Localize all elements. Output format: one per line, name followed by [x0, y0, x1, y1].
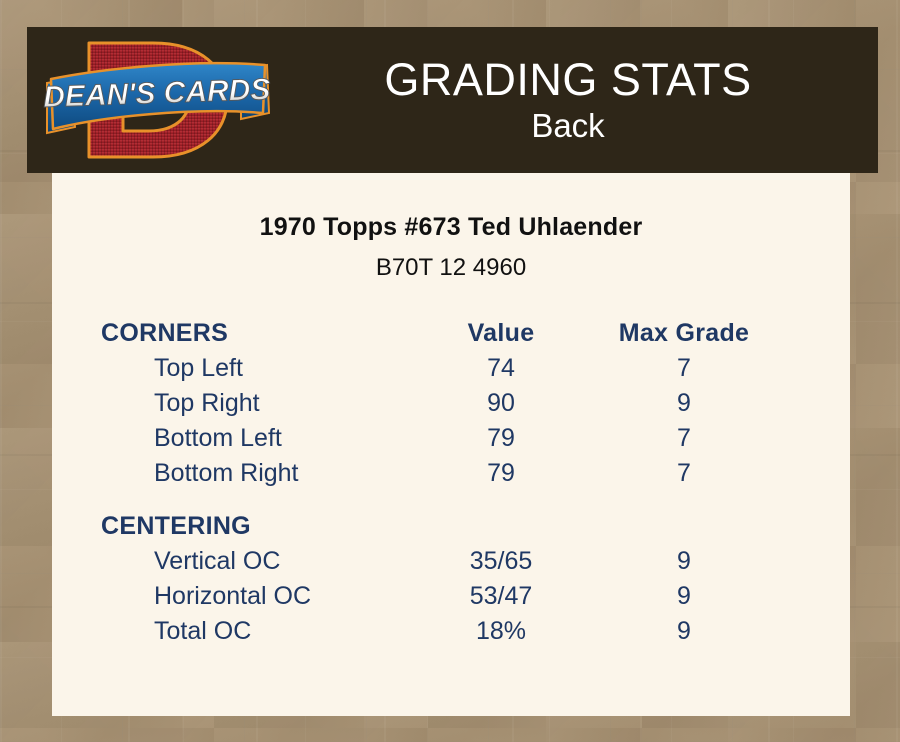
- section-title: CORNERS: [101, 319, 411, 348]
- stat-max-grade: 9: [591, 582, 777, 611]
- stat-max-grade: 7: [591, 354, 777, 383]
- stats-row: Top Left747: [101, 354, 828, 389]
- stats-panel: 1970 Topps #673 Ted Uhlaender B70T 12 49…: [52, 173, 850, 716]
- logo-area[interactable]: DEAN'S CARDS: [27, 27, 282, 173]
- page-title: GRADING STATS: [282, 54, 854, 106]
- stat-value: 79: [411, 424, 591, 453]
- stat-max-grade: 7: [591, 424, 777, 453]
- stat-label: Top Right: [101, 389, 411, 418]
- stat-max-grade: 9: [591, 617, 777, 646]
- stat-label: Bottom Right: [101, 459, 411, 488]
- stat-label: Horizontal OC: [101, 582, 411, 611]
- stat-max-grade: 9: [591, 547, 777, 576]
- stat-value: 35/65: [411, 547, 591, 576]
- section-spacer: [101, 494, 828, 512]
- stat-label: Top Left: [101, 354, 411, 383]
- header-title-block: GRADING STATS Back: [282, 54, 878, 146]
- column-header-max-grade: Max Grade: [591, 319, 777, 348]
- stat-label: Vertical OC: [101, 547, 411, 576]
- card-title: 1970 Topps #673 Ted Uhlaender: [52, 213, 850, 242]
- stat-value: 79: [411, 459, 591, 488]
- page-header: DEAN'S CARDS GRADING STATS Back: [27, 27, 878, 173]
- section-title: CENTERING: [101, 512, 411, 541]
- stat-value: 74: [411, 354, 591, 383]
- stat-label: Total OC: [101, 617, 411, 646]
- card-subtitle: B70T 12 4960: [52, 254, 850, 282]
- stat-max-grade: 9: [591, 389, 777, 418]
- section-header-row: CORNERSValueMax Grade: [101, 319, 828, 354]
- grading-stats-sheet: DEAN'S CARDS GRADING STATS Back 1970 Top…: [0, 0, 900, 742]
- page-subtitle: Back: [282, 106, 854, 146]
- stat-value: 18%: [411, 617, 591, 646]
- stat-max-grade: 7: [591, 459, 777, 488]
- stats-row: Bottom Right797: [101, 459, 828, 494]
- stats-row: Horizontal OC53/479: [101, 582, 828, 617]
- stats-row: Vertical OC35/659: [101, 547, 828, 582]
- stats-row: Top Right909: [101, 389, 828, 424]
- stat-label: Bottom Left: [101, 424, 411, 453]
- stats-row: Bottom Left797: [101, 424, 828, 459]
- section-header-row: CENTERING: [101, 512, 828, 547]
- stat-value: 53/47: [411, 582, 591, 611]
- column-header-value: Value: [411, 319, 591, 348]
- deans-cards-logo-icon: DEAN'S CARDS: [41, 35, 273, 165]
- stat-value: 90: [411, 389, 591, 418]
- stats-row: Total OC18%9: [101, 617, 828, 652]
- grading-stats-table: CORNERSValueMax GradeTop Left747Top Righ…: [52, 319, 850, 652]
